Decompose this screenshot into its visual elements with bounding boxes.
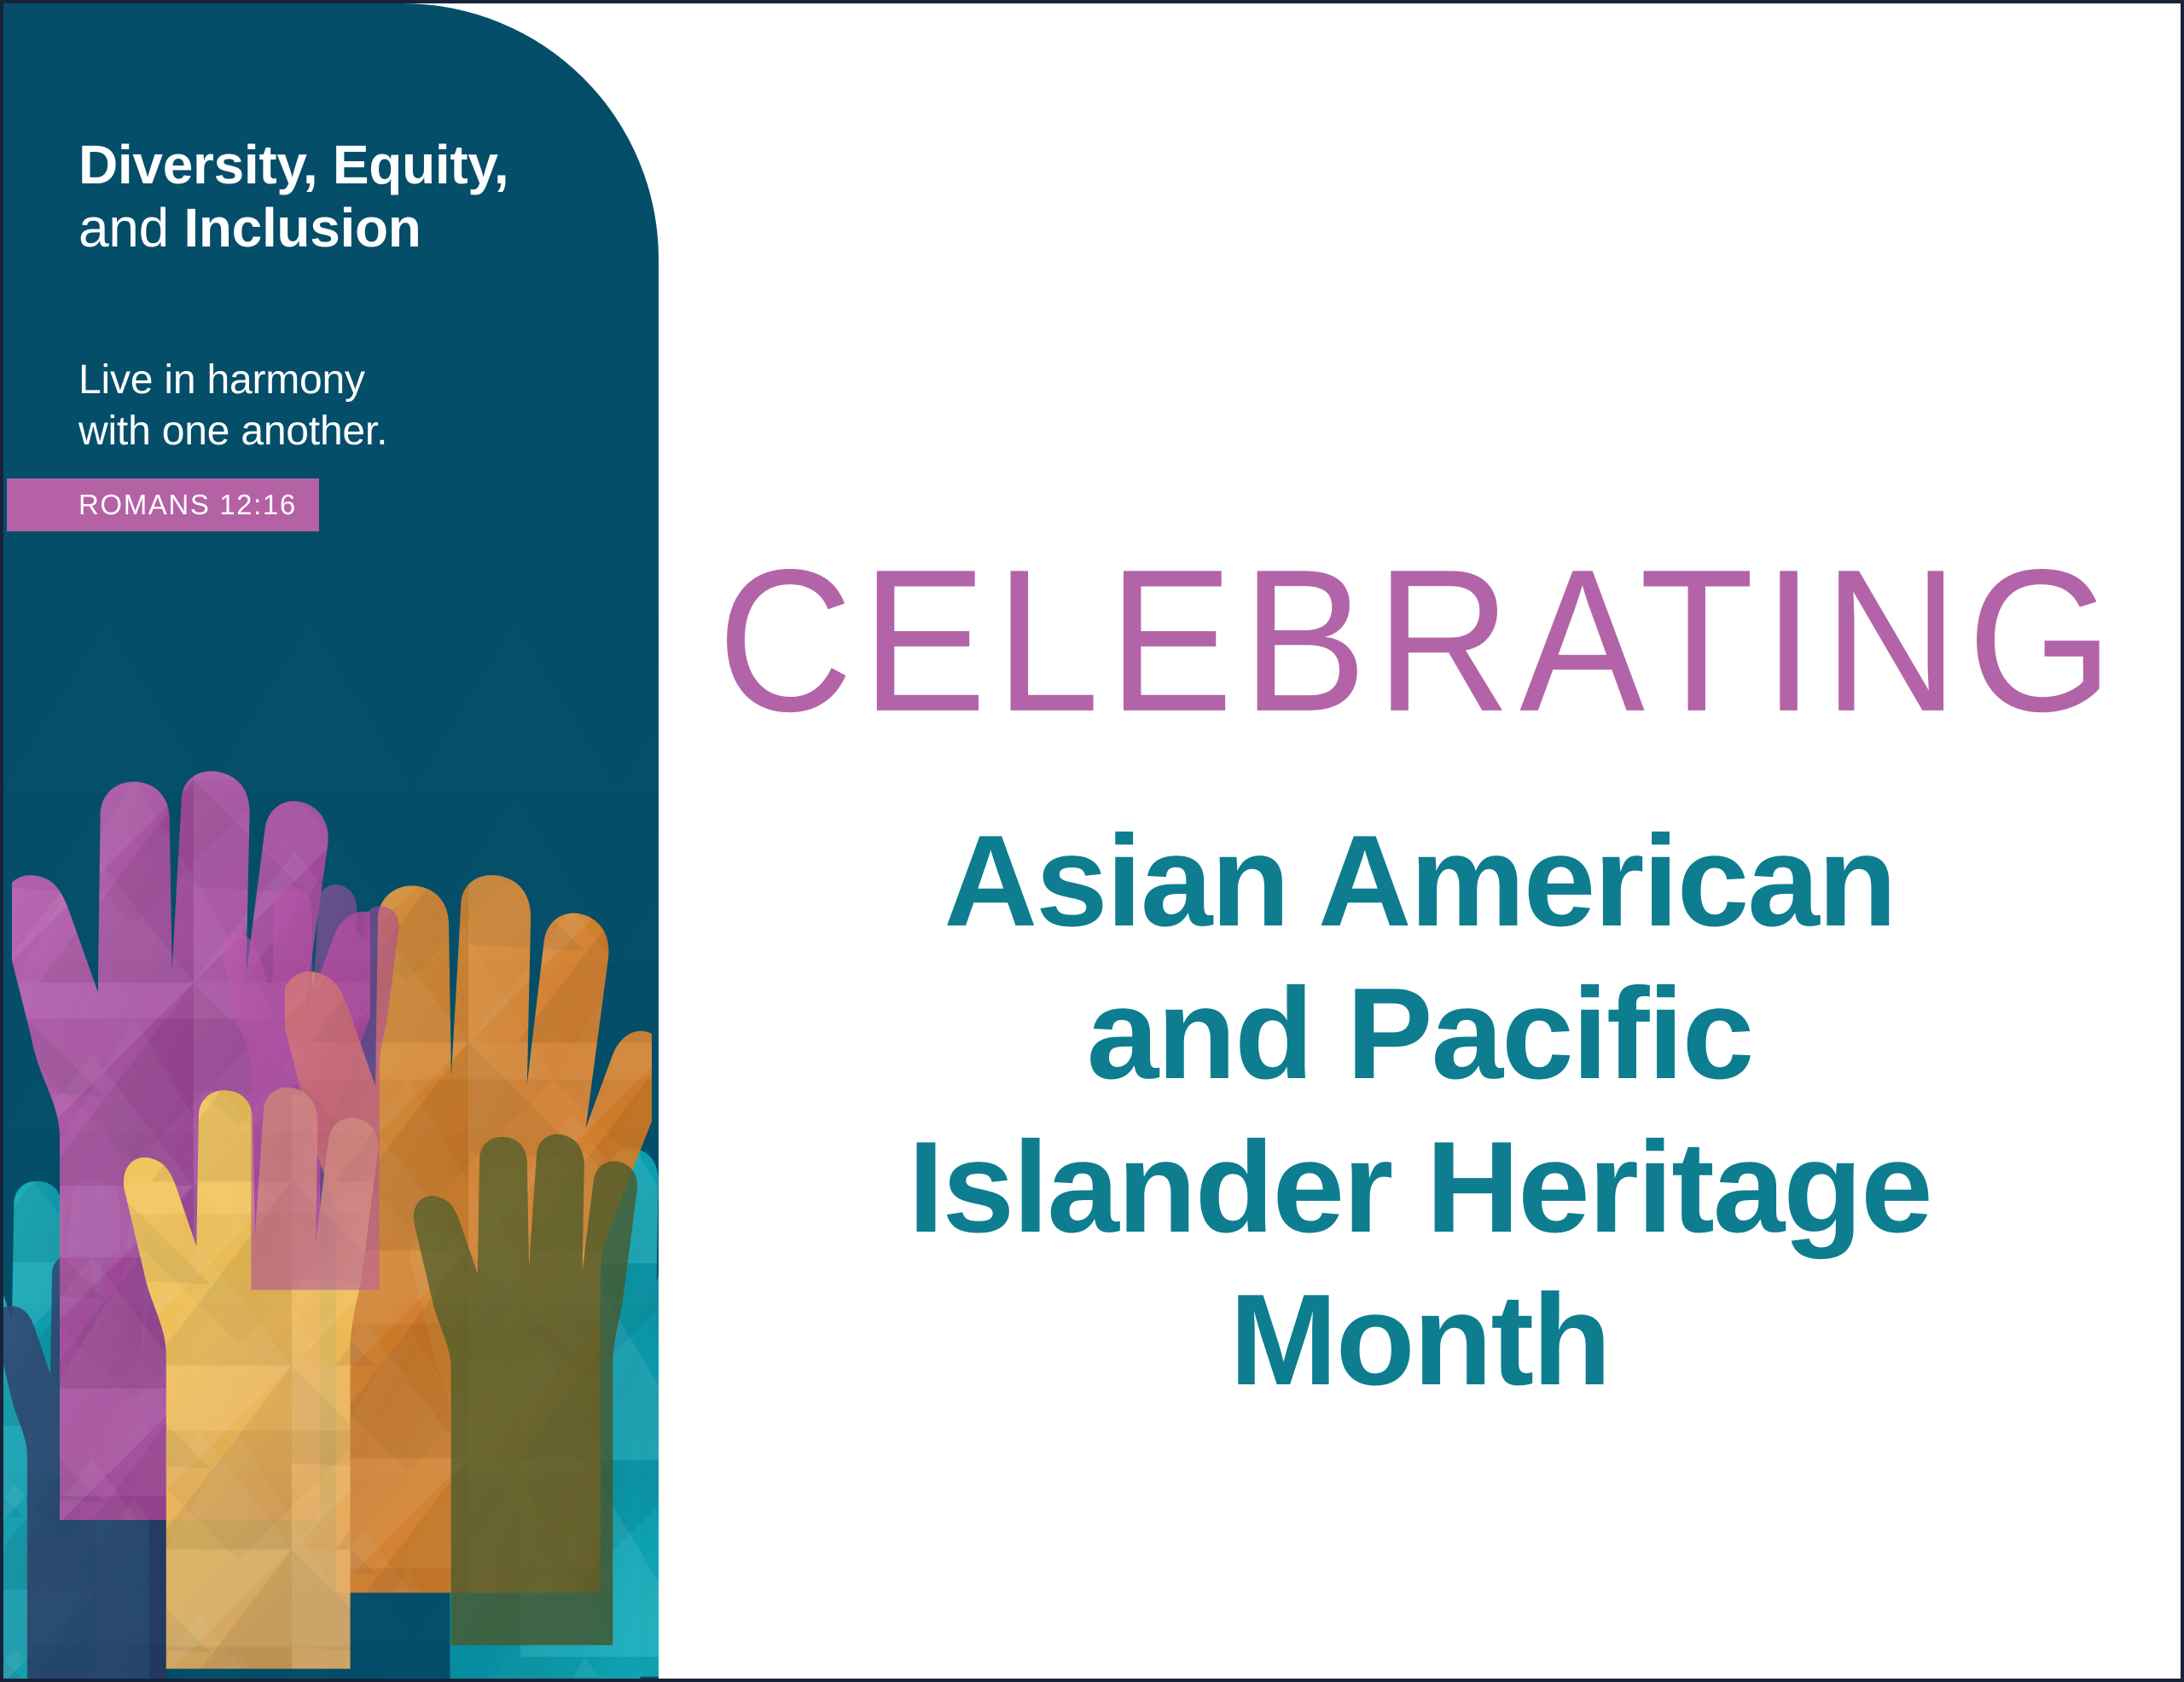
- left-teal-panel: Diversity, Equity, and Inclusion Live in…: [3, 3, 659, 1679]
- scripture-verse: Live in harmony with one another.: [78, 355, 556, 458]
- poster-canvas: Diversity, Equity, and Inclusion Live in…: [0, 0, 2184, 1682]
- eyebrow-celebrating: CELEBRATING: [659, 539, 2181, 742]
- dei-title-line1: Diversity, Equity,: [78, 134, 508, 195]
- raised-hands-illustration: [3, 621, 659, 1679]
- dei-title: Diversity, Equity, and Inclusion: [78, 133, 624, 259]
- verse-line-2: with one another.: [78, 409, 387, 454]
- heading-line-3: Islander Heritage: [679, 1111, 2160, 1264]
- dei-title-line2-bold: Inclusion: [183, 197, 421, 258]
- verse-line-1: Live in harmony: [78, 357, 365, 403]
- heading-line-4: Month: [679, 1264, 2160, 1417]
- right-content-area: CELEBRATING Asian American and Pacific I…: [659, 3, 2181, 1679]
- verse-reference-label: ROMANS 12:16: [78, 489, 297, 521]
- main-heading: Asian American and Pacific Islander Heri…: [679, 805, 2160, 1417]
- heading-line-2: and Pacific: [679, 958, 2160, 1111]
- heading-line-1: Asian American: [679, 805, 2160, 958]
- verse-reference-badge: ROMANS 12:16: [7, 478, 319, 531]
- dei-title-line2-prefix: and: [78, 197, 183, 258]
